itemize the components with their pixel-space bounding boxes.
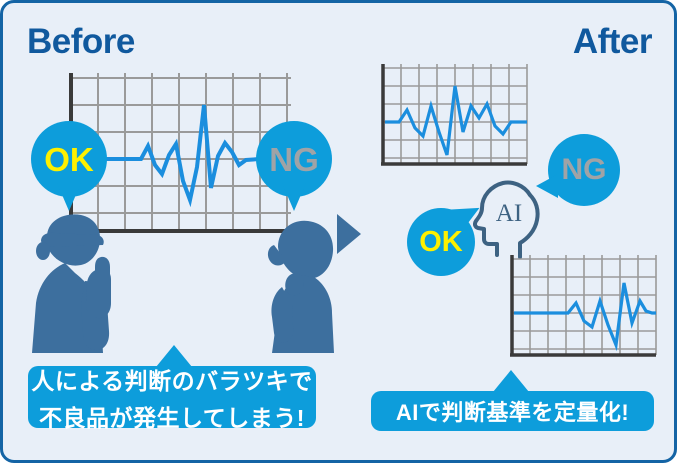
balloon-ng-before: NG — [256, 121, 332, 197]
ai-head-text: AI — [496, 200, 522, 227]
after-callout-line-1: AIで判断基準を定量化! — [396, 395, 629, 427]
infographic-root: Before After — [0, 0, 677, 463]
before-callout-banner: 人による判断のバラツキで 不良品が発生してしまう! — [28, 366, 316, 428]
balloon-ok-label: OK — [419, 228, 463, 257]
worker-pointing-silhouette-icon — [25, 211, 155, 358]
banner-pointer-icon — [493, 370, 529, 392]
balloon-tail-down-icon — [282, 183, 306, 211]
after-callout-banner: AIで判断基準を定量化! — [371, 391, 654, 431]
banner-pointer-icon — [156, 345, 192, 367]
balloon-ng-label: NG — [562, 155, 607, 185]
balloon-ng-label: NG — [269, 143, 319, 176]
before-panel-title: Before — [27, 24, 135, 59]
balloon-tail-down-icon — [57, 183, 81, 211]
balloon-ok-label: OK — [44, 143, 94, 176]
balloon-tail-left-icon — [536, 174, 558, 198]
balloon-ng-after: NG — [548, 134, 620, 206]
balloon-ok-after: OK — [407, 208, 475, 276]
before-callout-line-2: 不良品が発生してしまう! — [39, 399, 305, 433]
after-panel-title: After — [573, 24, 652, 59]
chart-after-top — [377, 60, 529, 172]
flow-arrow-icon — [337, 214, 361, 254]
chart-after-bottom — [506, 251, 658, 363]
balloon-ok-before: OK — [31, 121, 107, 197]
